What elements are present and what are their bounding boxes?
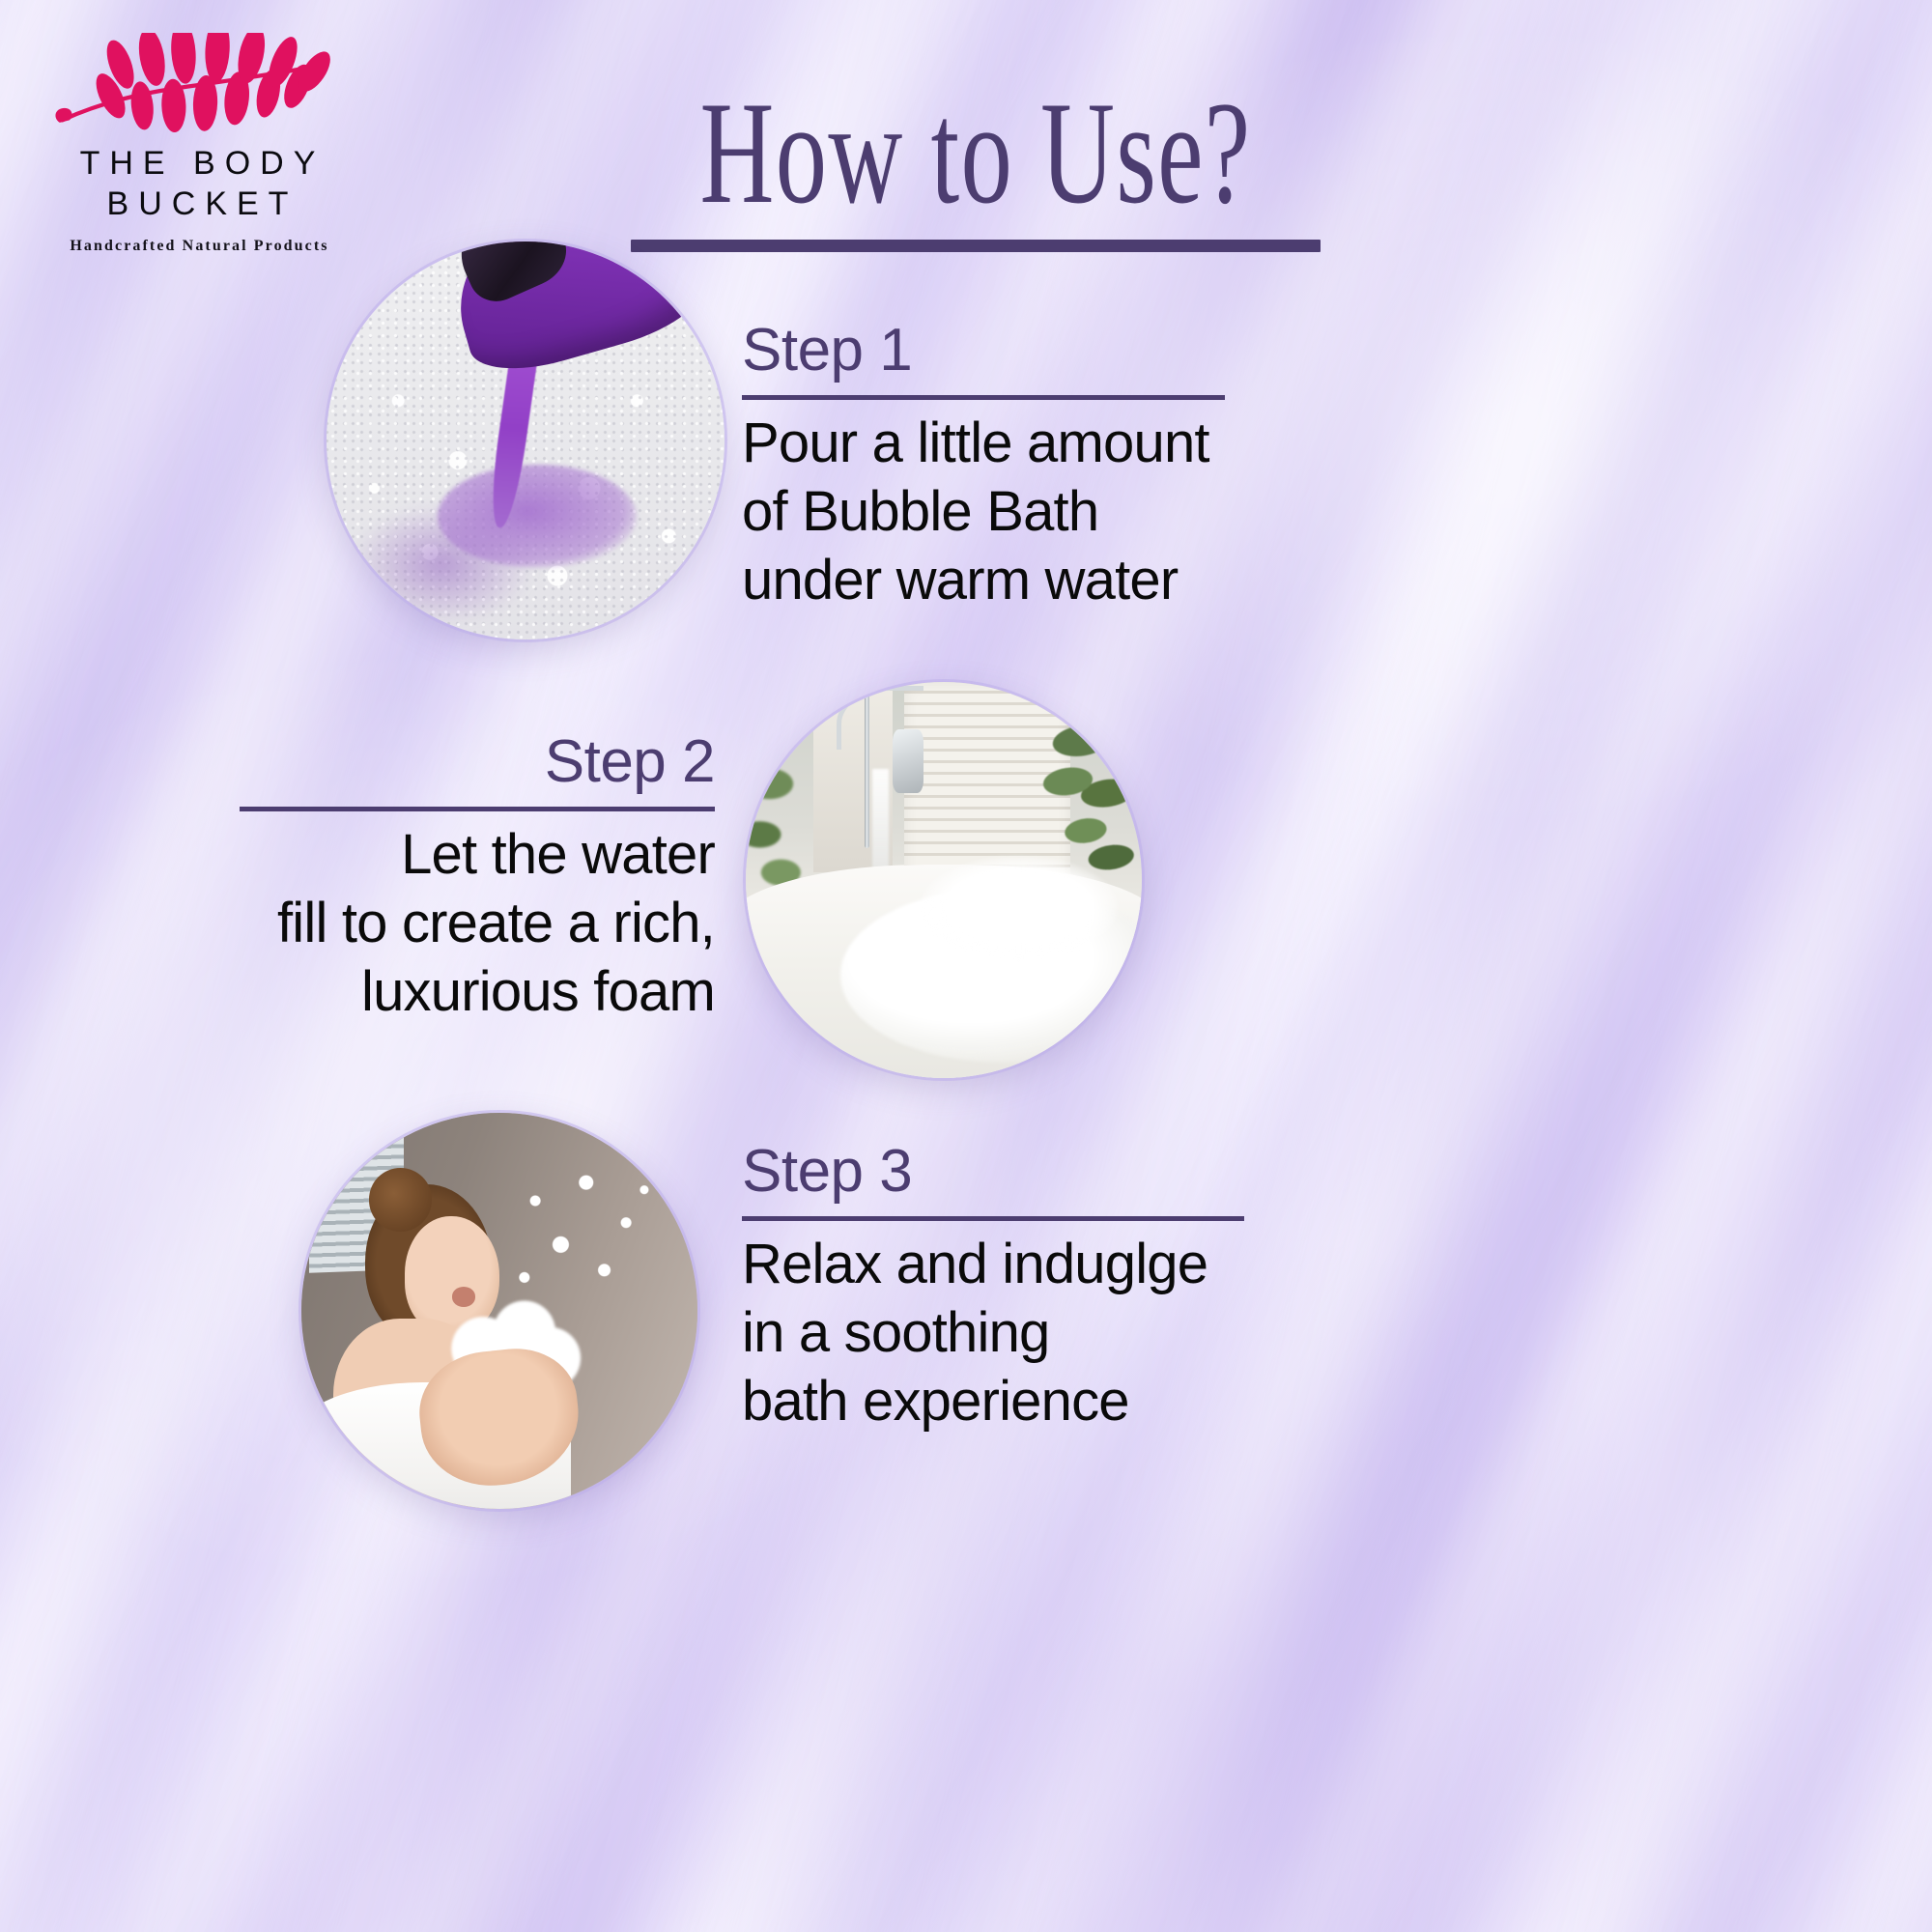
- brand-tagline: Handcrafted Natural Products: [39, 238, 357, 255]
- bubble-bath-pouring-photo: [327, 241, 724, 639]
- step-2-image: [746, 682, 1142, 1078]
- bathtub-filling-photo: [746, 682, 1142, 1078]
- step-1-text: Step 1 Pour a little amount of Bubble Ba…: [742, 319, 1225, 614]
- step-3-divider: [742, 1216, 1244, 1221]
- how-to-use-poster: THE BODY BUCKET Handcrafted Natural Prod…: [0, 0, 1932, 1932]
- title-underline: [631, 240, 1321, 252]
- brand-name-line-1: THE BODY: [47, 143, 357, 184]
- step-1-image: [327, 241, 724, 639]
- step-1-divider: [742, 395, 1225, 400]
- step-3-body: Relax and induglge in a soothing bath ex…: [742, 1231, 1244, 1435]
- brand-name-line-2: BUCKET: [47, 184, 357, 224]
- step-3-text: Step 3 Relax and induglge in a soothing …: [742, 1140, 1244, 1435]
- page-title-block: How to Use?: [541, 79, 1410, 252]
- step-3-label: Step 3: [742, 1140, 1244, 1203]
- fern-leaf-icon: [39, 33, 357, 137]
- brand-logo: THE BODY BUCKET Handcrafted Natural Prod…: [39, 33, 357, 255]
- page-title: How to Use?: [671, 79, 1280, 226]
- step-2-divider: [240, 807, 715, 811]
- step-2-label: Step 2: [240, 730, 715, 793]
- step-2-text: Step 2 Let the water fill to create a ri…: [240, 730, 715, 1026]
- step-1-label: Step 1: [742, 319, 1225, 382]
- woman-blowing-foam-photo: [301, 1113, 697, 1509]
- step-1-body: Pour a little amount of Bubble Bath unde…: [742, 410, 1225, 614]
- step-3-image: [301, 1113, 697, 1509]
- step-2-body: Let the water fill to create a rich, lux…: [240, 821, 715, 1026]
